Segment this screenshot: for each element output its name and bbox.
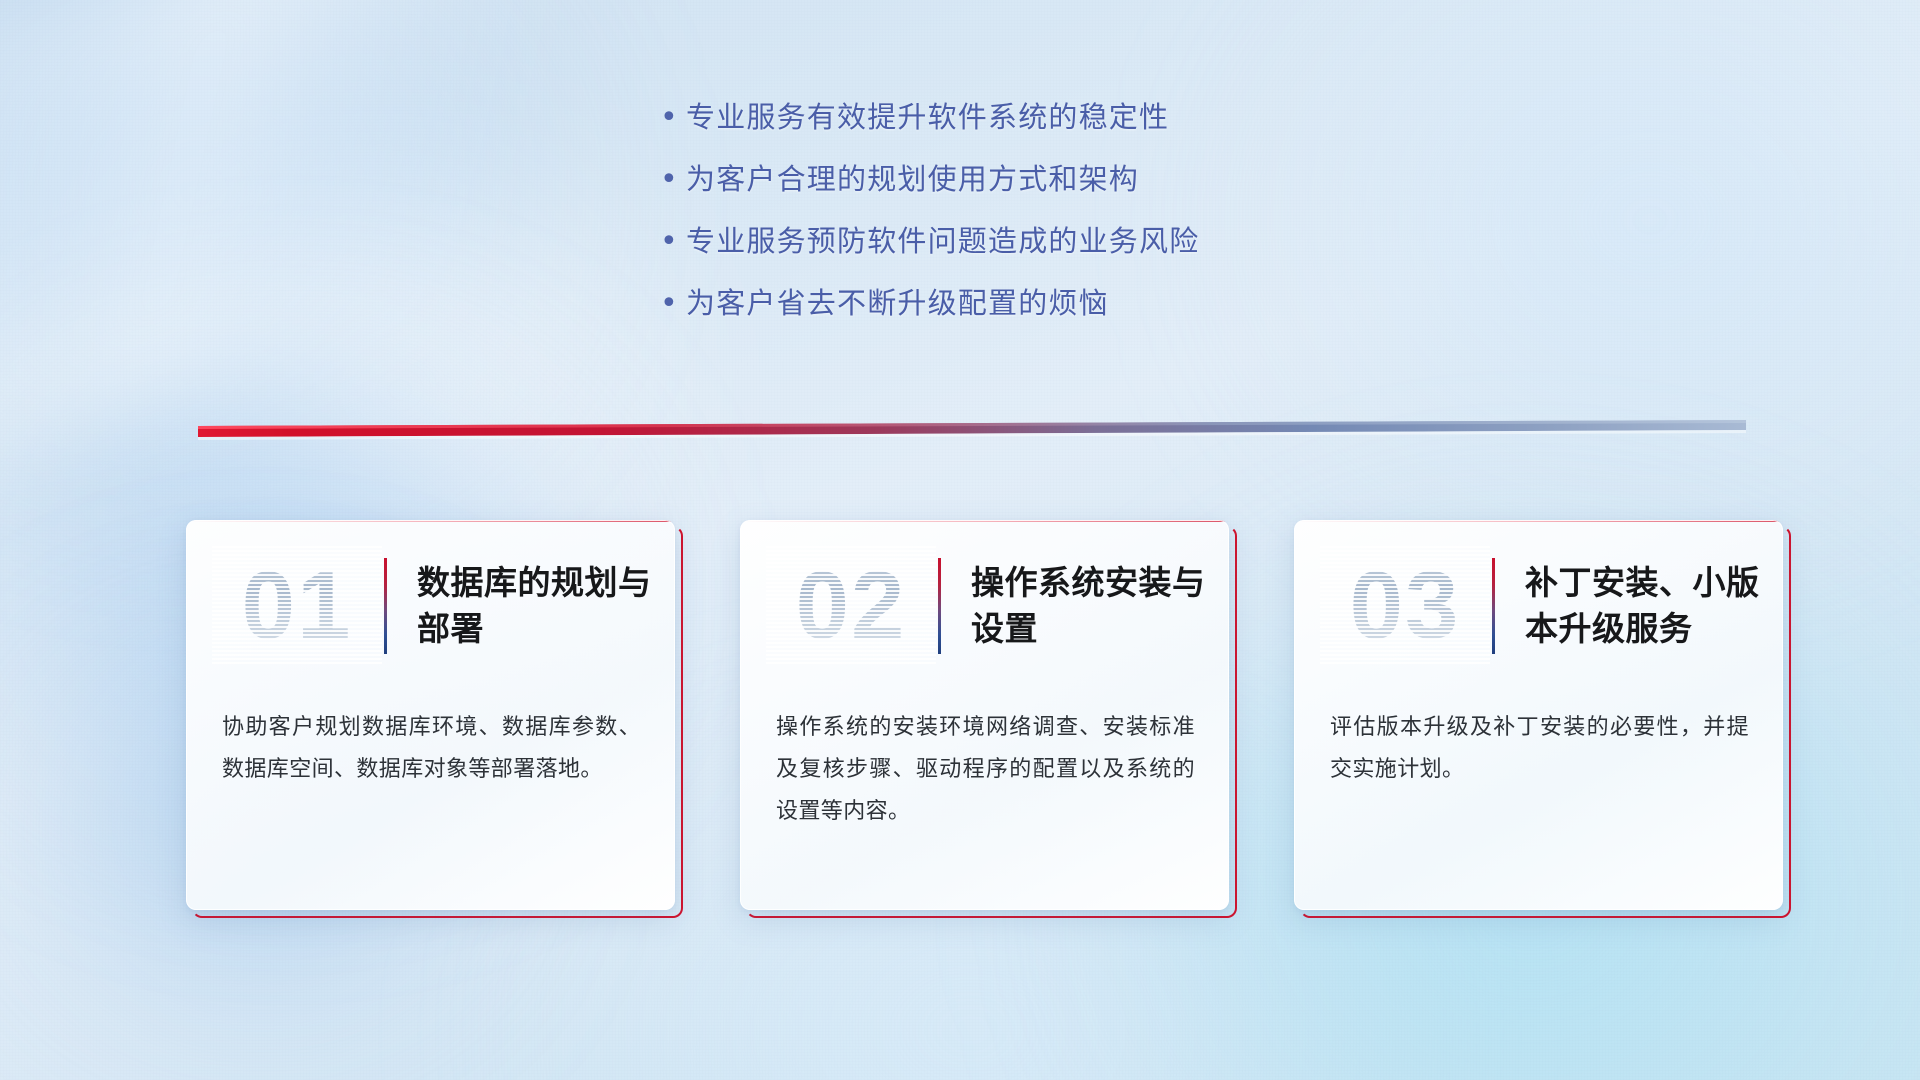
card-description: 协助客户规划数据库环境、数据库参数、数据库空间、数据库对象等部署落地。 xyxy=(222,706,641,790)
card-number-watermark: 01 xyxy=(212,546,382,666)
service-card-list: 01 数据库的规划与部署 协助客户规划数据库环境、数据库参数、数据库空间、数据库… xyxy=(186,520,1806,920)
divider-gradient-bar xyxy=(186,420,1746,446)
list-item: • 专业服务有效提升软件系统的稳定性 xyxy=(660,96,1420,158)
benefits-bullet-list: • 专业服务有效提升软件系统的稳定性 • 为客户合理的规划使用方式和架构 • 专… xyxy=(660,96,1420,344)
bullet-point-icon: • xyxy=(660,220,686,264)
bullet-text: 专业服务有效提升软件系统的稳定性 xyxy=(686,96,1169,140)
bullet-text: 为客户合理的规划使用方式和架构 xyxy=(686,158,1139,202)
card-number-text: 03 xyxy=(1350,546,1461,666)
card-surface: 03 补丁安装、小版本升级服务 评估版本升级及补丁安装的必要性，并提交实施计划。 xyxy=(1294,520,1783,910)
service-card[interactable]: 01 数据库的规划与部署 协助客户规划数据库环境、数据库参数、数据库空间、数据库… xyxy=(186,520,683,918)
list-item: • 为客户合理的规划使用方式和架构 xyxy=(660,158,1420,220)
card-top-accent-line xyxy=(1294,520,1783,522)
card-header: 03 补丁安装、小版本升级服务 xyxy=(1294,542,1783,670)
card-header: 01 数据库的规划与部署 xyxy=(186,542,675,670)
list-item: • 专业服务预防软件问题造成的业务风险 xyxy=(660,220,1420,282)
bullet-text: 为客户省去不断升级配置的烦恼 xyxy=(686,282,1109,326)
list-item: • 为客户省去不断升级配置的烦恼 xyxy=(660,282,1420,344)
card-top-accent-line xyxy=(740,520,1229,522)
bullet-point-icon: • xyxy=(660,96,686,140)
card-title: 补丁安装、小版本升级服务 xyxy=(1495,560,1783,652)
card-number-text: 02 xyxy=(796,546,907,666)
service-card[interactable]: 03 补丁安装、小版本升级服务 评估版本升级及补丁安装的必要性，并提交实施计划。 xyxy=(1294,520,1791,918)
card-header: 02 操作系统安装与设置 xyxy=(740,542,1229,670)
service-card[interactable]: 02 操作系统安装与设置 操作系统的安装环境网络调查、安装标准及复核步骤、驱动程… xyxy=(740,520,1237,918)
card-title: 操作系统安装与设置 xyxy=(941,560,1229,652)
card-number-text: 01 xyxy=(242,546,353,666)
bullet-text: 专业服务预防软件问题造成的业务风险 xyxy=(686,220,1199,264)
card-title: 数据库的规划与部署 xyxy=(387,560,675,652)
section-divider xyxy=(186,420,1746,446)
card-surface: 02 操作系统安装与设置 操作系统的安装环境网络调查、安装标准及复核步骤、驱动程… xyxy=(740,520,1229,910)
card-surface: 01 数据库的规划与部署 协助客户规划数据库环境、数据库参数、数据库空间、数据库… xyxy=(186,520,675,910)
card-number-watermark: 03 xyxy=(1320,546,1490,666)
card-description: 操作系统的安装环境网络调查、安装标准及复核步骤、驱动程序的配置以及系统的设置等内… xyxy=(776,706,1195,832)
card-top-accent-line xyxy=(186,520,675,522)
bullet-point-icon: • xyxy=(660,158,686,202)
card-number-watermark: 02 xyxy=(766,546,936,666)
bullet-point-icon: • xyxy=(660,282,686,326)
card-description: 评估版本升级及补丁安装的必要性，并提交实施计划。 xyxy=(1330,706,1749,790)
